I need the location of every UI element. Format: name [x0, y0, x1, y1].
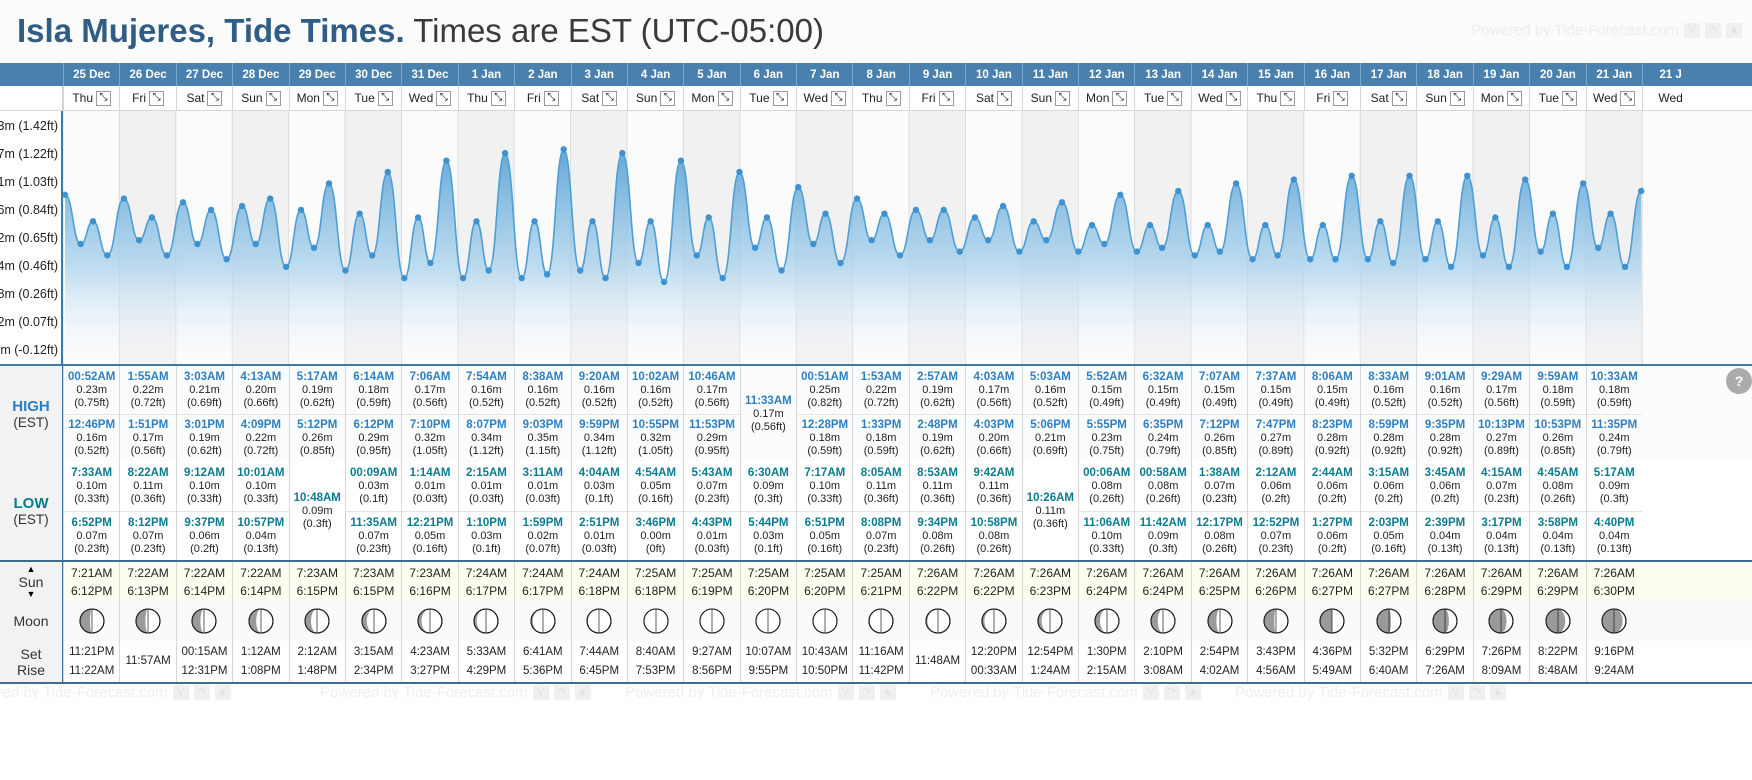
moon-setrise-cell: 2:10PM3:08AM [1134, 641, 1190, 682]
tide-height-m: 0.26m [302, 432, 333, 445]
tide-event: 5:52AM0.15m(0.49ft) [1079, 366, 1134, 414]
low-tide-cell: 9:42AM0.11m(0.36ft)10:58PM0.08m(0.26ft) [965, 462, 1021, 560]
day-header-cell[interactable]: Sun⤡ [1416, 86, 1472, 110]
day-header-cell[interactable]: Sat⤡ [1360, 86, 1416, 110]
tide-time: 1:55AM [128, 371, 169, 384]
sun-cell: 7:26AM6:24PM [1078, 562, 1134, 601]
tide-height-ft: (0.16ft) [1371, 543, 1406, 556]
moonrise-time: 9:24AM [1594, 662, 1634, 681]
date-header-cell: 28 Dec [232, 63, 288, 86]
sunset-time: 6:26PM [1255, 582, 1296, 600]
moon-cell [1529, 601, 1585, 641]
sunrise-time: 7:26AM [1142, 564, 1183, 582]
day-header-label: Wed [1593, 91, 1617, 105]
sun-cell: 7:26AM6:22PM [909, 562, 965, 601]
high-tide-cell: 8:33AM0.16m(0.52ft)8:59PM0.28m(0.92ft) [1360, 366, 1416, 462]
tide-event: 4:43PM0.01m(0.03ft) [684, 511, 739, 560]
tide-time: 8:06AM [1312, 371, 1353, 384]
sunrise-time: 7:26AM [1481, 564, 1522, 582]
tide-event: 9:59AM0.18m(0.59ft) [1530, 366, 1585, 414]
tide-height-ft: (0.52ft) [74, 445, 109, 458]
moon-phase-icon [1037, 608, 1063, 634]
moon-setrise-cell: 00:15AM12:31PM [176, 641, 232, 682]
tide-height-m: 0.07m [697, 480, 728, 493]
tide-height-m: 0.07m [358, 530, 389, 543]
low-tide-cell: 10:48AM0.09m(0.3ft) [289, 462, 345, 560]
tide-event: 4:15AM0.07m(0.23ft) [1474, 462, 1529, 511]
expand-icon[interactable]: ⤡ [773, 91, 788, 106]
expand-icon[interactable]: ⤡ [602, 91, 617, 106]
expand-icon[interactable]: ⤡ [1055, 91, 1070, 106]
tide-height-m: 0.17m [979, 384, 1010, 397]
moon-setrise-cell: 11:16AM11:42PM [852, 641, 908, 682]
sunset-time: 6:21PM [860, 582, 901, 600]
expand-icon[interactable]: ⤡ [939, 91, 954, 106]
moon-cell [1360, 601, 1416, 641]
tide-time: 4:45AM [1537, 467, 1578, 480]
tide-height-m: 0.02m [528, 530, 559, 543]
watermark-icon-2: ↷ [1705, 23, 1721, 38]
moonset-time: 2:12AM [297, 643, 337, 662]
sun-cell: 7:25AM6:21PM [852, 562, 908, 601]
tide-height-ft: (0.26ft) [1146, 493, 1181, 506]
moon-cell [289, 601, 345, 641]
moonset-time: 11:16AM [859, 643, 904, 662]
moon-setrise-cell: 12:54PM1:24AM [1022, 641, 1078, 682]
tide-height-m: 0.19m [189, 432, 220, 445]
high-tide-cell: 10:46AM0.17m(0.56ft)11:53PM0.29m(0.95ft) [683, 366, 739, 462]
moon-cell [796, 601, 852, 641]
day-header-label: Sat [1371, 91, 1389, 105]
day-header-cell[interactable]: Thu⤡ [63, 86, 119, 110]
expand-icon[interactable]: ⤡ [1507, 91, 1522, 106]
tide-height-ft: (0.26ft) [1202, 543, 1237, 556]
tide-time: 12:17PM [1196, 517, 1243, 530]
tide-event: 5:03AM0.16m(0.52ft) [1023, 366, 1078, 414]
expand-icon[interactable]: ⤡ [96, 91, 111, 106]
tide-height-ft: (0.07ft) [525, 543, 560, 556]
sunrise-time: 7:26AM [973, 564, 1014, 582]
sunrise-time: 7:26AM [1594, 564, 1635, 582]
day-header-cell[interactable]: Tue⤡ [1529, 86, 1585, 110]
tide-height-m: 0.07m [76, 530, 107, 543]
tide-height-ft: (0.56ft) [977, 397, 1012, 410]
low-tide-cell: 7:17AM0.10m(0.33ft)6:51PM0.05m(0.16ft) [796, 462, 852, 560]
moon-setrise-cell: 11:48AM [909, 641, 965, 682]
expand-icon[interactable]: ⤡ [149, 91, 164, 106]
sun-cell: 7:26AM6:29PM [1529, 562, 1585, 601]
day-header-cell[interactable]: Thu⤡ [852, 86, 908, 110]
tide-height-m: 0.24m [1148, 432, 1179, 445]
watermark-icon-2: ↷ [859, 685, 875, 700]
moonrise-time: 4:02AM [1200, 662, 1240, 681]
sun-cell: 7:26AM6:22PM [965, 562, 1021, 601]
tide-time: 7:10PM [410, 419, 450, 432]
watermark-icon-2: ↷ [554, 685, 570, 700]
tide-event: 7:37AM0.15m(0.49ft) [1248, 366, 1303, 414]
tide-time: 10:13PM [1478, 419, 1525, 432]
tide-height-m: 0.20m [246, 384, 277, 397]
moonrise-time: 9:55PM [749, 662, 789, 681]
date-header-cell: 9 Jan [909, 63, 965, 86]
day-header-cell[interactable]: Wed⤡ [1191, 86, 1247, 110]
tide-height-ft: (0.36ft) [920, 493, 955, 506]
expand-icon[interactable]: ⤡ [207, 91, 222, 106]
expand-icon[interactable]: ⤡ [491, 91, 506, 106]
high-label-tz: (EST) [13, 415, 48, 430]
tide-height-ft: (0.33ft) [807, 493, 842, 506]
sunrise-time: 7:26AM [917, 564, 958, 582]
tide-height-ft: (0.1ft) [359, 493, 388, 506]
tide-time: 8:59PM [1369, 419, 1409, 432]
tide-time: 10:02AM [632, 371, 679, 384]
tide-time: 5:55PM [1087, 419, 1127, 432]
date-header-cell: 31 Dec [401, 63, 457, 86]
tide-event: 9:59PM0.34m(1.12ft) [572, 414, 627, 462]
tide-height-m: 0.07m [1204, 480, 1235, 493]
sunset-time: 6:20PM [804, 582, 845, 600]
day-header-cell[interactable]: Wed⤡ [401, 86, 457, 110]
tide-time: 8:07PM [466, 419, 506, 432]
expand-icon[interactable]: ⤡ [1450, 91, 1465, 106]
tide-time: 11:35PM [1591, 419, 1637, 432]
sunrise-time: 7:23AM [297, 564, 338, 582]
tide-time: 8:05AM [861, 467, 902, 480]
tide-height-ft: (0.49ft) [1258, 397, 1293, 410]
tide-height-m: 0.08m [1148, 480, 1179, 493]
y-axis-tick-label: 0.08m (0.26ft) [0, 287, 58, 301]
tide-event: 4:45AM0.08m(0.26ft) [1530, 462, 1585, 511]
tide-event: 10:13PM0.27m(0.89ft) [1474, 414, 1529, 462]
tide-height-ft: (0.23ft) [74, 543, 109, 556]
low-tide-cell: 4:45AM0.08m(0.26ft)3:58PM0.04m(0.13ft) [1529, 462, 1585, 560]
day-header-cell[interactable]: Fri⤡ [1304, 86, 1360, 110]
sun-cell: 7:25AM6:20PM [796, 562, 852, 601]
day-header-cell[interactable]: Wed⤡ [796, 86, 852, 110]
tide-height-m: 0.26m [1543, 432, 1574, 445]
moon-setrise-cell: 2:12AM1:48PM [289, 641, 345, 682]
tide-height-ft: (0.03ft) [469, 493, 504, 506]
expand-icon[interactable]: ⤡ [544, 91, 559, 106]
expand-icon[interactable]: ⤡ [266, 91, 281, 106]
tide-height-ft: (0.16ft) [807, 543, 842, 556]
date-header-cell: 29 Dec [289, 63, 345, 86]
tide-height-ft: (0.36ft) [977, 493, 1012, 506]
tide-event: 10:58PM0.08m(0.26ft) [966, 511, 1021, 560]
tide-time: 4:15AM [1481, 467, 1522, 480]
sunrise-time: 7:25AM [691, 564, 732, 582]
moon-cell [627, 601, 683, 641]
moonrise-time: 3:27PM [410, 662, 450, 681]
tide-event: 00:51AM0.25m(0.82ft) [797, 366, 852, 414]
tide-event: 3:45AM0.06m(0.2ft) [1417, 462, 1472, 511]
moon-phase-icon [699, 608, 725, 634]
tide-time: 1:59PM [523, 517, 563, 530]
moonset-time: 3:43PM [1256, 643, 1296, 662]
moon-setrise-cell: 6:29PM7:26AM [1416, 641, 1472, 682]
day-header-cell[interactable]: Tue⤡ [740, 86, 796, 110]
sunset-time: 6:17PM [522, 582, 563, 600]
expand-icon[interactable]: ⤡ [1333, 91, 1348, 106]
moonrise-time: 7:26AM [1425, 662, 1465, 681]
low-tide-cell: 3:11AM0.01m(0.03ft)1:59PM0.02m(0.07ft) [514, 462, 570, 560]
moon-setrise-cell: 1:30PM2:15AM [1078, 641, 1134, 682]
tide-time: 4:43PM [692, 517, 732, 530]
day-header-cell[interactable]: Wed⤡ [1586, 86, 1642, 110]
expand-icon[interactable]: ⤡ [718, 91, 733, 106]
high-tide-cell: 5:17AM0.19m(0.62ft)5:12PM0.26m(0.85ft) [289, 366, 345, 462]
moonrise-time: 5:36PM [523, 662, 563, 681]
chart-marker-badge[interactable]: ? [1726, 368, 1752, 394]
tide-height-m: 0.22m [133, 384, 164, 397]
low-tide-cell: 5:43AM0.07m(0.23ft)4:43PM0.01m(0.03ft) [683, 462, 739, 560]
tide-event: 6:14AM0.18m(0.59ft) [346, 366, 401, 414]
tide-height-ft: (0.33ft) [187, 493, 222, 506]
day-header-cell[interactable]: Sun⤡ [232, 86, 288, 110]
day-header-cell[interactable]: Sun⤡ [627, 86, 683, 110]
day-header-cell[interactable]: Fri⤡ [514, 86, 570, 110]
page-title-timezone: Times are EST (UTC-05:00) [413, 12, 824, 49]
tide-event: 3:46PM0.00m(0ft) [628, 511, 683, 560]
tide-height-ft: (0.62ft) [920, 397, 955, 410]
sunset-time: 6:30PM [1594, 582, 1635, 600]
sunrise-time: 7:22AM [240, 564, 281, 582]
tide-event: 5:55PM0.23m(0.75ft) [1079, 414, 1134, 462]
tide-time: 9:03PM [523, 419, 563, 432]
moon-phase-icon [79, 608, 105, 634]
date-header-cell: 8 Jan [852, 63, 908, 86]
moonset-time: 3:15AM [354, 643, 394, 662]
day-header-cell[interactable]: Sat⤡ [965, 86, 1021, 110]
moon-phase-icon [1319, 608, 1345, 634]
tide-height-m: 0.07m [1261, 530, 1292, 543]
tide-time: 9:59PM [579, 419, 619, 432]
tide-time: 2:39PM [1425, 517, 1465, 530]
sunrise-time: 7:23AM [353, 564, 394, 582]
tide-event: 4:13AM0.20m(0.66ft) [233, 366, 288, 414]
tide-event: 1:27PM0.06m(0.2ft) [1305, 511, 1360, 560]
tide-event: 2:15AM0.01m(0.03ft) [459, 462, 514, 511]
expand-icon[interactable]: ⤡ [1620, 91, 1635, 106]
tide-height-ft: (1.12ft) [469, 445, 504, 458]
tide-height-m: 0.01m [584, 530, 615, 543]
moonset-time: 6:29PM [1425, 643, 1465, 662]
tide-time: 7:17AM [804, 467, 845, 480]
day-header-cell[interactable]: Mon⤡ [1473, 86, 1529, 110]
tide-time: 6:51PM [805, 517, 845, 530]
tide-event: 12:21PM0.05m(0.16ft) [402, 511, 457, 560]
tide-event: 6:12PM0.29m(0.95ft) [346, 414, 401, 462]
tide-height-m: 0.03m [358, 480, 389, 493]
tide-height-ft: (0.23ft) [1484, 493, 1519, 506]
expand-icon[interactable]: ⤡ [378, 91, 393, 106]
sunset-time: 6:15PM [297, 582, 338, 600]
tide-height-m: 0.16m [584, 384, 615, 397]
expand-icon[interactable]: ⤡ [1167, 91, 1182, 106]
expand-icon[interactable]: ⤡ [660, 91, 675, 106]
day-header-cell[interactable]: Tue⤡ [1134, 86, 1190, 110]
date-header-cell: 3 Jan [571, 63, 627, 86]
expand-icon[interactable]: ⤡ [323, 91, 338, 106]
moon-setrise-cell: 4:36PM5:49AM [1304, 641, 1360, 682]
tide-height-m: 0.06m [1317, 480, 1348, 493]
tide-height-ft: (0.85ft) [1540, 445, 1575, 458]
moonrise-time: 5:49AM [1312, 662, 1352, 681]
moon-phase-icon [1432, 608, 1458, 634]
day-header-label: Mon [297, 91, 320, 105]
moonrise-time: 11:22AM [69, 662, 114, 681]
tide-time: 1:33PM [861, 419, 901, 432]
sun-cell: 7:26AM6:27PM [1360, 562, 1416, 601]
moon-setrise-cell: 10:07AM9:55PM [740, 641, 796, 682]
high-tide-cell: 10:02AM0.16m(0.52ft)10:55PM0.32m(1.05ft) [627, 366, 683, 462]
tide-height-ft: (0.3ft) [1149, 543, 1178, 556]
day-header-cell[interactable]: Mon⤡ [1078, 86, 1134, 110]
high-tide-cell: 4:03AM0.17m(0.56ft)4:03PM0.20m(0.66ft) [965, 366, 1021, 462]
day-header-cell[interactable]: Fri⤡ [909, 86, 965, 110]
sun-row-label: Sun [0, 562, 63, 601]
moonset-time: 7:44AM [579, 643, 619, 662]
sun-cell: 7:26AM6:25PM [1191, 562, 1247, 601]
moonset-time: 00:15AM [181, 643, 227, 662]
tide-event: 5:43AM0.07m(0.23ft) [684, 462, 739, 511]
sun-cell: 7:26AM6:30PM [1586, 562, 1642, 601]
tide-height-m: 0.10m [189, 480, 220, 493]
day-header-cell[interactable]: Sat⤡ [176, 86, 232, 110]
high-tide-cell: 7:06AM0.17m(0.56ft)7:10PM0.32m(1.05ft) [401, 366, 457, 462]
tide-time: 2:15AM [466, 467, 507, 480]
tide-height-m: 0.24m [1599, 432, 1630, 445]
day-header-cell[interactable]: Wed [1642, 86, 1698, 110]
day-header-cell[interactable]: Sun⤡ [1022, 86, 1078, 110]
expand-icon[interactable]: ⤡ [436, 91, 451, 106]
moon-setrise-cell: 10:43AM10:50PM [796, 641, 852, 682]
tide-height-ft: (0.52ft) [1033, 397, 1068, 410]
expand-icon[interactable]: ⤡ [1226, 91, 1241, 106]
high-tide-cell: 5:03AM0.16m(0.52ft)5:06PM0.21m(0.69ft) [1022, 366, 1078, 462]
expand-icon[interactable]: ⤡ [831, 91, 846, 106]
tide-time: 5:06PM [1030, 419, 1070, 432]
tide-height-ft: (1.12ft) [582, 445, 617, 458]
tide-event: 2:48PM0.19m(0.62ft) [910, 414, 965, 462]
tide-time: 9:01AM [1425, 371, 1466, 384]
sunset-time: 6:12PM [71, 582, 112, 600]
moon-setrise-cell: 8:40AM7:53PM [627, 641, 683, 682]
expand-icon[interactable]: ⤡ [1280, 91, 1295, 106]
page-title: Isla Mujeres, Tide Times. Times are EST … [17, 11, 824, 51]
date-header-cell: 26 Dec [119, 63, 175, 86]
tide-time: 3:11AM [523, 467, 563, 480]
high-tide-cell: 9:20AM0.16m(0.52ft)9:59PM0.34m(1.12ft) [571, 366, 627, 462]
date-header-cell: 18 Jan [1416, 63, 1472, 86]
moon-phase-icon [1094, 608, 1120, 634]
sunrise-time: 7:25AM [635, 564, 676, 582]
tide-height-m: 0.08m [1543, 480, 1574, 493]
tide-event: 9:42AM0.11m(0.36ft) [966, 462, 1021, 511]
sun-cell: 7:24AM6:18PM [571, 562, 627, 601]
sun-cell: 7:25AM6:18PM [627, 562, 683, 601]
tide-time: 10:55PM [632, 419, 679, 432]
sunset-time: 6:24PM [1142, 582, 1183, 600]
sunrise-time: 7:25AM [804, 564, 845, 582]
day-header-cell[interactable]: Thu⤡ [458, 86, 514, 110]
tide-height-m: 0.05m [640, 480, 671, 493]
expand-icon[interactable]: ⤡ [1562, 91, 1577, 106]
day-header-cell[interactable]: Thu⤡ [1247, 86, 1303, 110]
tide-height-ft: (0.72ft) [864, 397, 899, 410]
tide-height-ft: (0.56ft) [1484, 397, 1519, 410]
tide-height-ft: (0.33ft) [243, 493, 278, 506]
tide-event: 12:52PM0.07m(0.23ft) [1248, 511, 1303, 560]
tide-time: 2:12AM [1255, 467, 1296, 480]
tide-height-m: 0.07m [133, 530, 164, 543]
tide-time: 7:37AM [1255, 371, 1296, 384]
tide-height-m: 0.35m [528, 432, 559, 445]
day-header-cell[interactable]: Mon⤡ [683, 86, 739, 110]
expand-icon[interactable]: ⤡ [886, 91, 901, 106]
tide-height-ft: (0.56ft) [751, 421, 786, 434]
tide-time: 10:53PM [1535, 419, 1582, 432]
tide-height-m: 0.10m [1091, 530, 1122, 543]
tide-time: 9:12AM [184, 467, 225, 480]
day-header-cell[interactable]: Sat⤡ [571, 86, 627, 110]
tide-height-m: 0.10m [76, 480, 107, 493]
tide-height-m: 0.17m [1486, 384, 1517, 397]
day-header-cell[interactable]: Fri⤡ [119, 86, 175, 110]
tide-height-m: 0.11m [923, 480, 953, 493]
tide-event: 1:59PM0.02m(0.07ft) [515, 511, 570, 560]
tide-time: 4:54AM [635, 467, 676, 480]
tide-height-m: 0.19m [302, 384, 333, 397]
tide-height-ft: (0.03ft) [525, 493, 560, 506]
tide-time: 9:35PM [1425, 419, 1465, 432]
tide-height-m: 0.17m [415, 384, 446, 397]
tide-event: 3:11AM0.01m(0.03ft) [515, 462, 570, 511]
moon-phase-icon [868, 608, 894, 634]
tide-height-ft: (0.62ft) [187, 445, 222, 458]
moonset-time: 12:20PM [971, 643, 1017, 662]
high-tide-cell: 7:07AM0.15m(0.49ft)7:12PM0.26m(0.85ft) [1191, 366, 1247, 462]
expand-icon[interactable]: ⤡ [1112, 91, 1127, 106]
tide-height-ft: (0.03ft) [582, 543, 617, 556]
sunset-time: 6:15PM [353, 582, 394, 600]
tide-time: 2:57AM [917, 371, 958, 384]
day-header-cell[interactable]: Tue⤡ [345, 86, 401, 110]
tide-height-m: 0.03m [471, 530, 502, 543]
tide-height-m: 0.01m [528, 480, 559, 493]
date-header-cell: 7 Jan [796, 63, 852, 86]
tide-event: 2:44AM0.06m(0.2ft) [1305, 462, 1360, 511]
tide-height-m: 0.18m [358, 384, 389, 397]
tide-height-ft: (0.13ft) [243, 543, 278, 556]
tide-height-ft: (0.59ft) [864, 445, 899, 458]
low-label-tz: (EST) [13, 512, 48, 527]
day-header-cell[interactable]: Mon⤡ [289, 86, 345, 110]
moonrise-time: 1:48PM [297, 662, 337, 681]
expand-icon[interactable]: ⤡ [1392, 91, 1407, 106]
watermark-bottom-text: Powered by Tide-Forecast.com [1235, 684, 1443, 701]
sunrise-time: 7:25AM [860, 564, 901, 582]
moon-cell [1586, 601, 1642, 641]
sun-cell: 7:22AM6:14PM [232, 562, 288, 601]
expand-icon[interactable]: ⤡ [997, 91, 1012, 106]
tide-height-m: 0.15m [1204, 384, 1235, 397]
sun-cell: 7:25AM6:20PM [740, 562, 796, 601]
moon-phase-icon [755, 608, 781, 634]
watermark-icon-2: ↷ [1164, 685, 1180, 700]
tide-time: 11:53PM [689, 419, 735, 432]
high-tide-cell: 5:52AM0.15m(0.49ft)5:55PM0.23m(0.75ft) [1078, 366, 1134, 462]
